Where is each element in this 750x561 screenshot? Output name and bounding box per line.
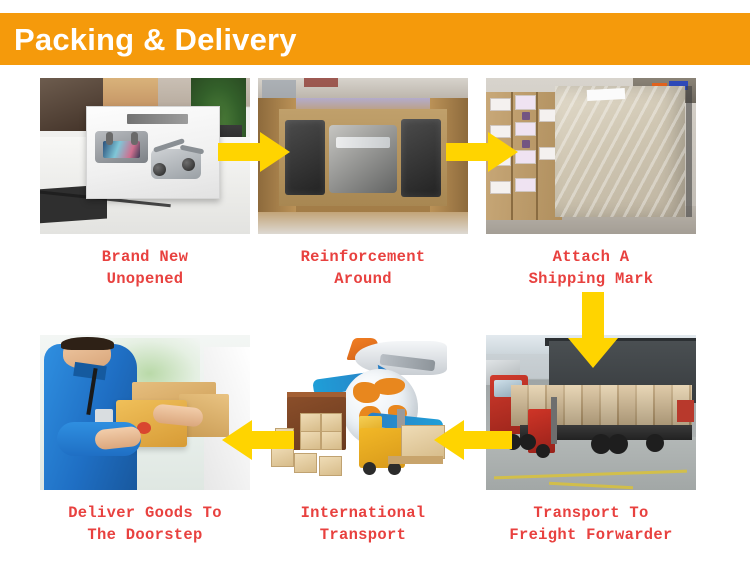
- forklift-mast: [551, 397, 557, 444]
- drone-retail-box: [86, 106, 220, 198]
- arrow-step4-to-step5: [434, 418, 512, 462]
- shipping-mark-label: [515, 122, 536, 136]
- control-stick-right: [131, 132, 138, 145]
- step-caption: Brand New Unopened: [40, 246, 250, 291]
- forklift-wheel: [388, 462, 401, 475]
- process-row-top: Brand New Unopened Reinforcement Around: [0, 78, 750, 293]
- stretch-wrapped-pallet: [555, 86, 685, 217]
- foam-insert-right: [401, 119, 441, 197]
- product-label: [336, 137, 391, 148]
- arrow-step2-to-step3: [446, 130, 518, 174]
- bubble-wrapped-product: [329, 125, 396, 194]
- forklift-wheel: [536, 444, 550, 458]
- foam-insert-left: [285, 120, 325, 195]
- step-caption: Attach A Shipping Mark: [486, 246, 696, 291]
- background-red-structure: [677, 400, 694, 422]
- truck-wheel: [520, 434, 536, 450]
- shipping-mark-label: [490, 98, 511, 111]
- background-object: [262, 80, 296, 99]
- handling-symbol: [522, 112, 530, 120]
- step-card-attach-a-shipping-mark: Attach A Shipping Mark: [486, 78, 696, 291]
- pallet-edge-shadow: [686, 86, 692, 217]
- cargo-crate: [294, 453, 317, 474]
- shipping-mark-label: [515, 95, 536, 109]
- step-caption: Deliver Goods To The Doorstep: [40, 502, 250, 547]
- cargo-crate: [300, 431, 321, 450]
- dji-logo: [127, 114, 188, 124]
- step-card-brand-new-unopened: Brand New Unopened: [40, 78, 250, 291]
- handling-symbol: [522, 140, 530, 148]
- header-bar: Packing & Delivery: [0, 13, 750, 65]
- process-row-bottom: Deliver Goods To The Doorstep: [0, 335, 750, 555]
- cargo-crate: [300, 413, 321, 432]
- step-caption: International Transport: [258, 502, 468, 547]
- cargo-crate: [321, 431, 342, 450]
- arrow-step3-to-step4: [566, 292, 620, 368]
- shipping-mark-label: [515, 178, 536, 192]
- cargo-crate: [321, 413, 342, 432]
- pallet-document-tag: [587, 88, 625, 101]
- control-stick-left: [106, 132, 113, 145]
- cargo-crate: [319, 456, 342, 477]
- courier-hair: [61, 337, 114, 351]
- shipping-mark-label: [490, 181, 511, 194]
- trailer-wheel: [608, 434, 628, 454]
- photo-deliver-goods-to-the-doorstep: [40, 335, 250, 490]
- step-caption: Reinforcement Around: [258, 246, 468, 291]
- arrow-step1-to-step2: [218, 130, 290, 174]
- carton-bottom-edge: [258, 212, 468, 234]
- forklift-wheel: [363, 462, 376, 475]
- arrow-step5-to-step6: [222, 418, 294, 462]
- photo-international-transport: [258, 335, 468, 490]
- background-red-object: [304, 78, 338, 87]
- packing-delivery-infographic: Packing & Delivery: [0, 0, 750, 561]
- stretch-film: [555, 86, 685, 217]
- step-card-reinforcement-around: Reinforcement Around: [258, 78, 468, 291]
- trailer-wheel: [646, 434, 664, 452]
- page-title: Packing & Delivery: [0, 24, 297, 55]
- shipping-mark-label: [515, 150, 536, 164]
- step-caption: Transport To Freight Forwarder: [486, 502, 696, 547]
- step-card-deliver-goods-to-the-doorstep: Deliver Goods To The Doorstep: [40, 335, 250, 547]
